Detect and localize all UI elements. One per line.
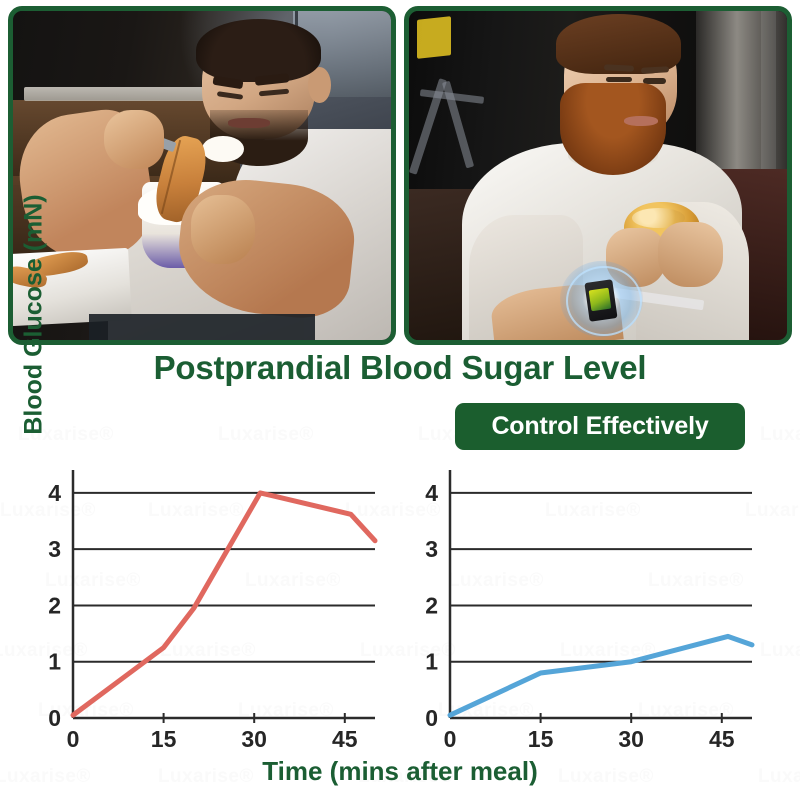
blood-glucose-charts: 015304501234015304501234 bbox=[0, 455, 800, 800]
y-tick-label: 1 bbox=[48, 649, 61, 675]
charts-area: 015304501234015304501234 bbox=[0, 455, 800, 800]
photo-overeating bbox=[8, 6, 396, 345]
page-title: Postprandial Blood Sugar Level bbox=[0, 349, 800, 387]
x-tick-label: 45 bbox=[709, 726, 735, 752]
y-tick-label: 0 bbox=[48, 705, 61, 731]
infographic-page: Luxarise®Luxarise®Luxarise®Luxarise®Luxa… bbox=[0, 0, 800, 800]
photo-row bbox=[0, 0, 800, 345]
chart-without-device: 015304501234 bbox=[48, 470, 375, 752]
watermark-text: Luxarise® bbox=[218, 424, 314, 446]
status-badge-label: Control Effectively bbox=[491, 412, 708, 441]
cream-on-face-shape bbox=[202, 136, 244, 162]
y-tick-label: 3 bbox=[425, 536, 438, 562]
y-tick-label: 2 bbox=[425, 592, 438, 618]
y-tick-label: 4 bbox=[425, 480, 438, 506]
beard-shape bbox=[560, 83, 666, 175]
hair-shape bbox=[196, 19, 321, 82]
smart-watch-screen-shape bbox=[589, 288, 611, 312]
x-tick-label: 0 bbox=[444, 726, 457, 752]
y-tick-label: 3 bbox=[48, 536, 61, 562]
lips-shape bbox=[624, 116, 658, 126]
series-line-without-device bbox=[73, 493, 375, 715]
x-tick-label: 45 bbox=[332, 726, 358, 752]
status-badge: Control Effectively bbox=[455, 403, 745, 450]
y-tick-label: 1 bbox=[425, 649, 438, 675]
mouth-shape bbox=[228, 118, 270, 128]
photo-wearing-device-image bbox=[409, 11, 787, 340]
x-tick-label: 30 bbox=[618, 726, 644, 752]
hand-right-shape bbox=[658, 222, 722, 288]
hand-left-shape bbox=[104, 110, 164, 169]
x-tick-label: 15 bbox=[151, 726, 177, 752]
watermark-text: Luxarise® bbox=[760, 424, 800, 446]
x-axis-title: Time (mins after meal) bbox=[0, 756, 800, 787]
x-tick-label: 30 bbox=[241, 726, 267, 752]
foreground-shadow-shape bbox=[89, 314, 316, 340]
y-tick-label: 4 bbox=[48, 480, 61, 506]
y-tick-label: 2 bbox=[48, 592, 61, 618]
y-axis-title: Blood Glucose (mN) bbox=[20, 185, 49, 445]
x-tick-label: 15 bbox=[528, 726, 554, 752]
x-tick-label: 0 bbox=[67, 726, 80, 752]
photo-overeating-image bbox=[13, 11, 391, 340]
eye-left-shape bbox=[606, 77, 632, 83]
series-line-with-device bbox=[450, 636, 752, 715]
chart-with-device: 015304501234 bbox=[425, 470, 752, 752]
photo-wearing-device bbox=[404, 6, 792, 345]
hand-right-shape bbox=[191, 195, 255, 264]
yellow-sign-shape bbox=[417, 16, 451, 59]
y-tick-label: 0 bbox=[425, 705, 438, 731]
